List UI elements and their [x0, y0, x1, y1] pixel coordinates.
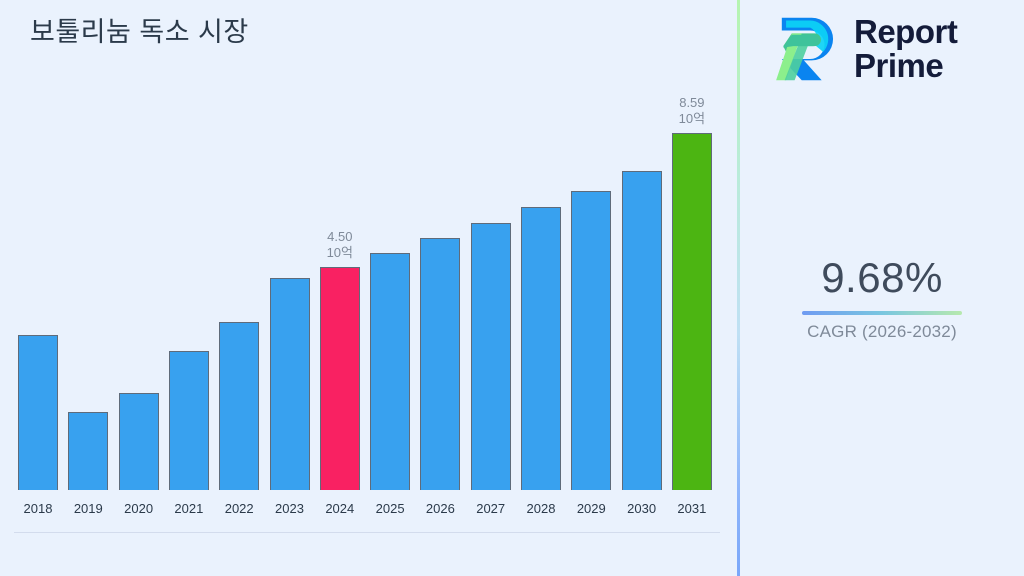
- chart-page: 보툴리눔 독소 시장 2018201920202021202220234.501…: [0, 0, 1024, 576]
- bar-group: 2029: [571, 191, 611, 490]
- bar-2021[interactable]: [169, 351, 209, 490]
- bar-group: 2019: [68, 412, 108, 490]
- bar-chart: 2018201920202021202220234.5010억202420252…: [0, 0, 738, 576]
- bar-group: 8.5910억2031: [672, 133, 712, 490]
- x-tick-label-2026: 2026: [420, 501, 460, 516]
- side-panel: Report Prime 9.68% CAGR (2026-2032): [740, 0, 1024, 576]
- bar-2025[interactable]: [370, 253, 410, 490]
- bar-2020[interactable]: [119, 393, 159, 490]
- bar-group: 2026: [420, 238, 460, 490]
- x-tick-label-2028: 2028: [521, 501, 561, 516]
- plot-area: 2018201920202021202220234.5010억202420252…: [0, 0, 720, 533]
- bar-group: 2020: [119, 393, 159, 490]
- x-tick-label-2027: 2027: [471, 501, 511, 516]
- cagr-divider-rule: [802, 311, 962, 315]
- bar-group: 2030: [622, 171, 662, 490]
- bar-value-label: 4.5010억: [327, 229, 353, 261]
- bar-group: 2025: [370, 253, 410, 490]
- bar-2026[interactable]: [420, 238, 460, 490]
- axis-baseline: [14, 532, 720, 533]
- bar-2024[interactable]: [320, 267, 360, 490]
- bar-2030[interactable]: [622, 171, 662, 490]
- bar-2022[interactable]: [219, 322, 259, 490]
- x-tick-label-2025: 2025: [370, 501, 410, 516]
- x-tick-label-2022: 2022: [219, 501, 259, 516]
- bar-group: 2021: [169, 351, 209, 490]
- x-tick-label-2030: 2030: [622, 501, 662, 516]
- brand-logo-line2: Prime: [854, 47, 943, 84]
- brand-logo-line1: Report: [854, 13, 957, 50]
- bar-group: 2022: [219, 322, 259, 490]
- bar-2018[interactable]: [18, 335, 58, 490]
- bar-group: 2018: [18, 335, 58, 490]
- x-tick-label-2023: 2023: [270, 501, 310, 516]
- cagr-block: 9.68% CAGR (2026-2032): [740, 255, 1024, 342]
- brand-logo: Report Prime: [770, 12, 957, 86]
- cagr-caption: CAGR (2026-2032): [740, 322, 1024, 342]
- bar-2031[interactable]: [672, 133, 712, 490]
- bar-value-unit: 10억: [679, 111, 705, 127]
- x-tick-label-2021: 2021: [169, 501, 209, 516]
- x-tick-label-2031: 2031: [672, 501, 712, 516]
- x-tick-label-2029: 2029: [571, 501, 611, 516]
- x-tick-label-2019: 2019: [68, 501, 108, 516]
- bar-2027[interactable]: [471, 223, 511, 490]
- bar-2019[interactable]: [68, 412, 108, 490]
- bar-value-label: 8.5910억: [679, 95, 705, 127]
- bar-2028[interactable]: [521, 207, 561, 490]
- bar-group: 4.5010억2024: [320, 267, 360, 490]
- bar-group: 2027: [471, 223, 511, 490]
- bar-group: 2023: [270, 278, 310, 490]
- brand-logo-text: Report Prime: [854, 15, 957, 84]
- cagr-value: 9.68%: [740, 255, 1024, 301]
- x-tick-label-2020: 2020: [119, 501, 159, 516]
- bar-2023[interactable]: [270, 278, 310, 490]
- bar-2029[interactable]: [571, 191, 611, 490]
- bar-group: 2028: [521, 207, 561, 490]
- report-prime-logo-mark-icon: [770, 12, 842, 86]
- bar-value-number: 4.50: [327, 229, 352, 244]
- x-tick-label-2024: 2024: [320, 501, 360, 516]
- bar-value-unit: 10억: [327, 245, 353, 261]
- bar-value-number: 8.59: [679, 95, 704, 110]
- x-tick-label-2018: 2018: [18, 501, 58, 516]
